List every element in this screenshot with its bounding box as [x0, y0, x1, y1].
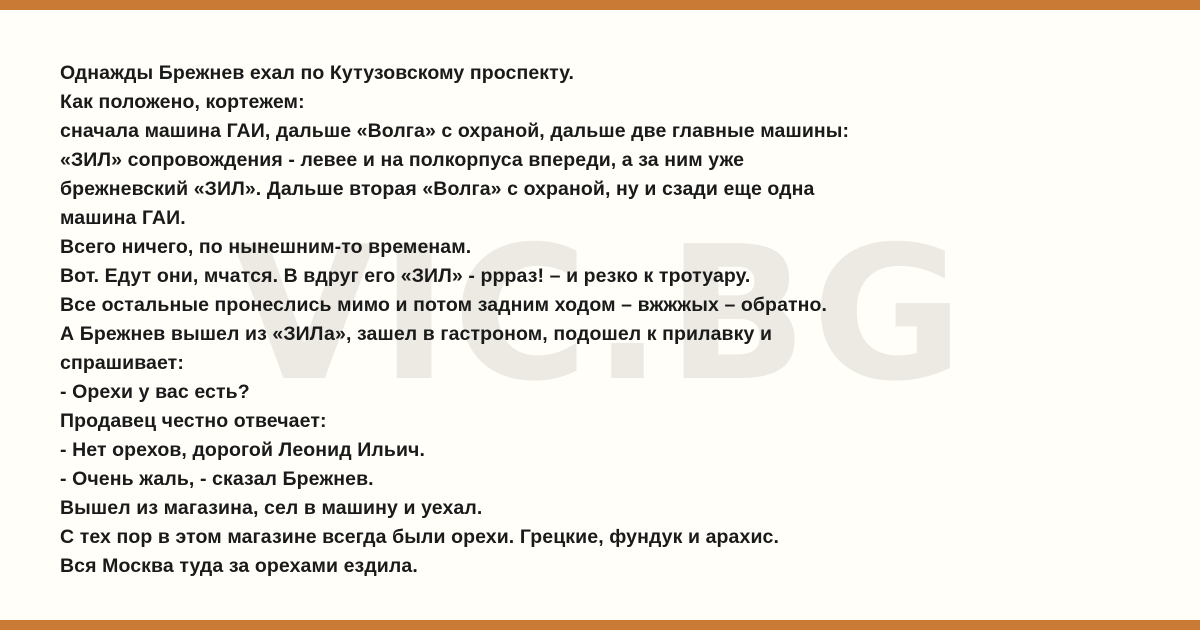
- joke-line: Вся Москва туда за орехами ездила.: [60, 552, 1150, 581]
- joke-line: Однажды Брежнев ехал по Кутузовскому про…: [60, 59, 1150, 88]
- joke-line: Продавец честно отвечает:: [60, 407, 1150, 436]
- joke-line: Все остальные пронеслись мимо и потом за…: [60, 291, 1150, 320]
- joke-line: брежневский «ЗИЛ». Дальше вторая «Волга»…: [60, 175, 1150, 204]
- joke-line: С тех пор в этом магазине всегда были ор…: [60, 523, 1150, 552]
- joke-text-block: Однажды Брежнев ехал по Кутузовскому про…: [60, 59, 1150, 581]
- bottom-accent-bar: [0, 620, 1200, 630]
- joke-line: «ЗИЛ» сопровождения - левее и на полкорп…: [60, 146, 1150, 175]
- top-accent-bar: [0, 0, 1200, 10]
- joke-line: Вот. Едут они, мчатся. В вдруг его «ЗИЛ»…: [60, 262, 1150, 291]
- joke-line: Всего ничего, по нынешним-то временам.: [60, 233, 1150, 262]
- joke-line: - Нет орехов, дорогой Леонид Ильич.: [60, 436, 1150, 465]
- joke-line: Как положено, кортежем:: [60, 88, 1150, 117]
- joke-line: - Очень жаль, - сказал Брежнев.: [60, 465, 1150, 494]
- joke-line: - Орехи у вас есть?: [60, 378, 1150, 407]
- joke-line: сначала машина ГАИ, дальше «Волга» с охр…: [60, 117, 1150, 146]
- joke-line: Вышел из магазина, сел в машину и уехал.: [60, 494, 1150, 523]
- joke-line: спрашивает:: [60, 349, 1150, 378]
- joke-card: VIC.BG Однажды Брежнев ехал по Кутузовск…: [0, 0, 1200, 630]
- joke-line: А Брежнев вышел из «ЗИЛа», зашел в гастр…: [60, 320, 1150, 349]
- joke-line: машина ГАИ.: [60, 204, 1150, 233]
